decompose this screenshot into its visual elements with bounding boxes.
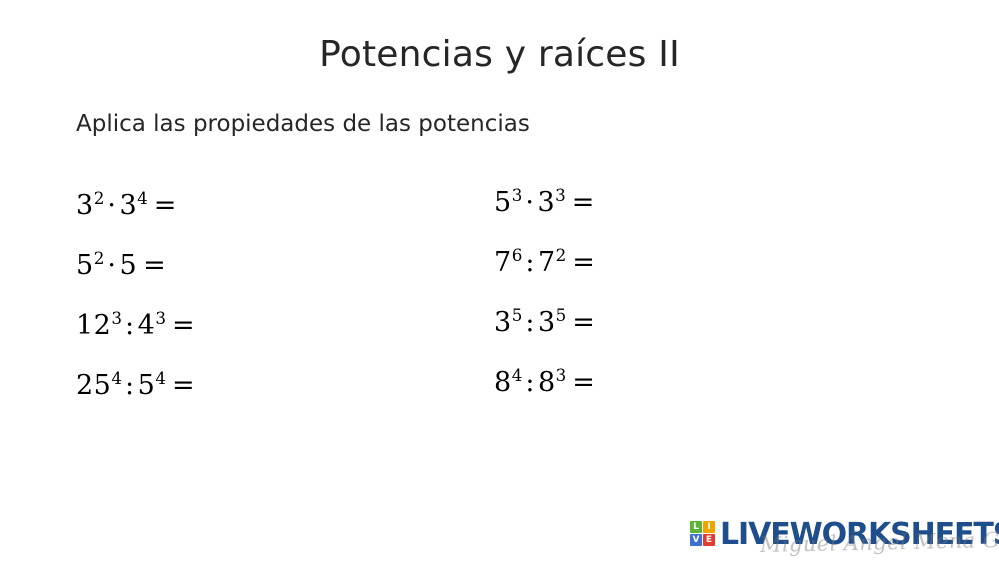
exercise-base-1: 3 <box>76 190 94 221</box>
exercise-exponent-1: 3 <box>111 308 122 328</box>
exercise-exponent-2: 4 <box>137 188 148 208</box>
tile-letter-e: E <box>703 534 715 546</box>
exercise-base-2: 5 <box>138 370 156 401</box>
exercise-equals: = <box>566 367 595 398</box>
tile-letter-l: L <box>690 521 702 533</box>
exercise-exponent-1: 4 <box>512 365 523 385</box>
exercise-base-2: 8 <box>538 367 556 398</box>
exercise-base-1: 5 <box>494 187 512 218</box>
logo-wordmark: LIVEWORKSHEETS <box>720 517 999 553</box>
exercise-exponent-1: 3 <box>512 185 523 205</box>
liveworksheets-logo: L I V E LIVEWORKSHEETS <box>688 517 993 553</box>
exercise-base-2: 4 <box>138 310 156 341</box>
exercise-equals: = <box>148 190 177 221</box>
exercise-base-1: 25 <box>76 370 111 401</box>
exercise-exponent-2: 3 <box>155 308 166 328</box>
exercise-item: 254:54= <box>76 356 195 416</box>
exercise-base-2: 3 <box>119 190 137 221</box>
exercise-exponent-2: 2 <box>556 245 567 265</box>
exercise-base-2: 3 <box>537 187 555 218</box>
exercise-operator: : <box>522 307 538 338</box>
exercise-exponent-1: 2 <box>94 248 105 268</box>
exercise-column-left: 32·34= 52·5= 123:43= 254:54= <box>76 176 195 416</box>
exercise-item: 84:83= <box>494 353 595 413</box>
exercise-column-right: 53·33= 76:72= 35:35= 84:83= <box>494 173 595 413</box>
exercise-exponent-1: 6 <box>512 245 523 265</box>
exercise-exponent-1: 5 <box>512 305 523 325</box>
exercise-equals: = <box>166 310 195 341</box>
exercise-operator: · <box>104 250 119 281</box>
tile-letter-i: I <box>703 521 715 533</box>
page-title: Potencias y raíces II <box>0 34 999 75</box>
exercise-operator: : <box>522 367 538 398</box>
exercise-base-1: 8 <box>494 367 512 398</box>
exercise-exponent-2: 4 <box>155 368 166 388</box>
exercise-base-1: 3 <box>494 307 512 338</box>
exercise-base-2: 5 <box>119 250 137 281</box>
exercise-operator: · <box>104 190 119 221</box>
exercise-base-1: 5 <box>76 250 94 281</box>
exercise-base-2: 7 <box>538 247 556 278</box>
exercise-exponent-1: 2 <box>94 188 105 208</box>
exercise-equals: = <box>166 370 195 401</box>
exercise-equals: = <box>566 247 595 278</box>
tile-letter-v: V <box>690 534 702 546</box>
exercise-item: 52·5= <box>76 236 195 296</box>
worksheet-page: Potencias y raíces II Aplica las propied… <box>0 0 999 562</box>
live-tiles-icon: L I V E <box>690 521 716 547</box>
exercise-base-1: 12 <box>76 310 111 341</box>
exercise-exponent-2: 5 <box>556 305 567 325</box>
exercise-exponent-1: 4 <box>111 368 122 388</box>
exercise-base-1: 7 <box>494 247 512 278</box>
exercise-item: 76:72= <box>494 233 595 293</box>
exercise-item: 35:35= <box>494 293 595 353</box>
exercise-item: 32·34= <box>76 176 195 236</box>
exercise-equals: = <box>137 250 166 281</box>
exercise-base-2: 3 <box>538 307 556 338</box>
exercise-operator: · <box>522 187 537 218</box>
exercise-equals: = <box>566 187 595 218</box>
exercise-equals: = <box>566 307 595 338</box>
exercise-item: 123:43= <box>76 296 195 356</box>
exercise-exponent-2: 3 <box>556 365 567 385</box>
exercise-exponent-2: 3 <box>555 185 566 205</box>
exercise-operator: : <box>122 370 138 401</box>
exercise-operator: : <box>522 247 538 278</box>
exercise-operator: : <box>122 310 138 341</box>
instruction-text: Aplica las propiedades de las potencias <box>76 111 530 137</box>
exercise-item: 53·33= <box>494 173 595 233</box>
